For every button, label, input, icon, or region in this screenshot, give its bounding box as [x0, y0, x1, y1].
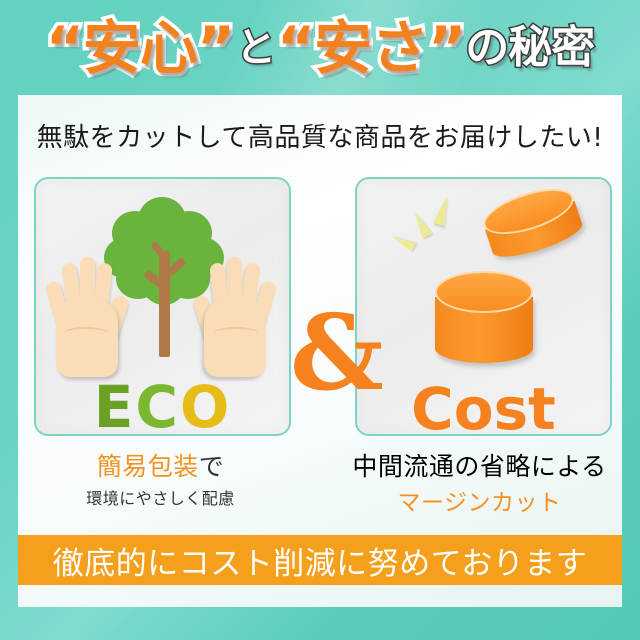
- hand-left-icon: [48, 249, 126, 377]
- headline-quote-close-2: ”: [428, 19, 465, 77]
- coin-lid-icon: [478, 180, 585, 264]
- headline-quote-open: “: [46, 19, 83, 77]
- headline-suffix: の秘密: [465, 26, 594, 70]
- headline-word-anshin: 安心: [83, 19, 197, 77]
- promo-poster: “ 安心 ” と “ 安さ ” の秘密 無駄をカットして高品質な商品をお届けした…: [0, 0, 640, 640]
- cost-panel: Cost: [355, 177, 612, 436]
- headline: “ 安心 ” と “ 安さ ” の秘密: [0, 6, 640, 90]
- cost-caption-main: 中間流通の省略による: [337, 453, 622, 482]
- content-card: 無駄をカットして高品質な商品をお届けしたい!: [18, 95, 622, 607]
- headline-quote-close: ”: [197, 19, 234, 77]
- cost-caption-sub: マージンカット: [337, 483, 622, 517]
- eco-caption-sub: 環境にやさしく配慮: [18, 485, 303, 509]
- eco-letter-c: C: [135, 373, 180, 436]
- ampersand-symbol: &: [290, 301, 384, 405]
- eco-letter-e: E: [94, 373, 136, 436]
- feature-panels: ECO & Cost: [18, 177, 622, 445]
- cost-wordmark: Cost: [357, 380, 610, 436]
- cost-caption: 中間流通の省略による マージンカット: [337, 453, 622, 517]
- coin-stack-icon: [435, 271, 533, 363]
- eco-panel: ECO: [34, 177, 291, 436]
- eco-letter-o: O: [180, 373, 231, 436]
- eco-caption: 簡易包装で 環境にやさしく配慮: [18, 453, 303, 509]
- sparkle-icon: [433, 194, 453, 226]
- sparkle-icon: [390, 232, 416, 252]
- eco-wordmark: ECO: [36, 378, 289, 436]
- headline-word-yasusa: 安さ: [314, 19, 428, 77]
- headline-quote-open-2: “: [277, 19, 314, 77]
- lead-message: 無駄をカットして高品質な商品をお届けしたい!: [18, 117, 622, 154]
- sparkle-icon: [410, 210, 432, 239]
- bottom-banner-text: 徹底的にコスト削減に努めております: [53, 538, 588, 583]
- eco-caption-highlight: 簡易包装: [97, 452, 199, 481]
- hand-right-icon: [196, 249, 274, 377]
- eco-caption-tail: で: [199, 452, 225, 481]
- bottom-banner: 徹底的にコスト削減に努めております: [18, 535, 622, 585]
- eco-caption-main: 簡易包装で: [18, 453, 303, 482]
- headline-conjunction: と: [236, 28, 275, 68]
